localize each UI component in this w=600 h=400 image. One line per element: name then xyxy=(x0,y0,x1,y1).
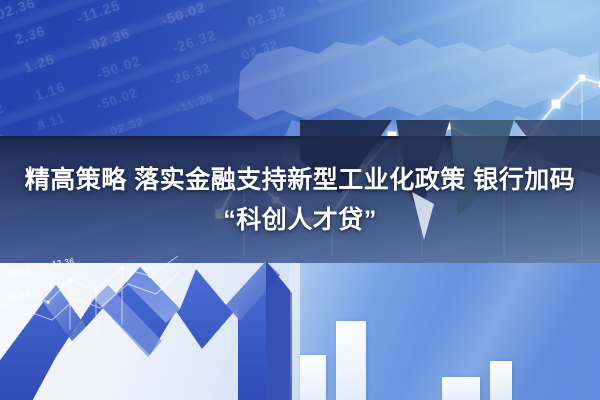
news-banner: -50.02-02.36+5.02-11.25-02.3621.364.96-0… xyxy=(0,0,600,400)
chart-node-marker xyxy=(579,75,586,82)
white-bar-chart xyxy=(290,300,600,400)
mini-value-label: 05.12 xyxy=(7,290,31,302)
bar-column xyxy=(336,321,366,400)
headline-line-1: 精高策略 落实金融支持新型工业化政策 银行加码 xyxy=(0,160,600,200)
headline-block: 精高策略 落实金融支持新型工业化政策 银行加码 “科创人才贷” xyxy=(0,160,600,240)
mini-value-label: 02.32 xyxy=(7,266,31,278)
bar-column xyxy=(300,355,326,400)
bar-column xyxy=(490,361,512,400)
bar-column xyxy=(442,377,480,400)
headline-line-2: “科创人才贷” xyxy=(0,200,600,240)
faint-value-labels: 02.3205.1212.36 xyxy=(0,250,180,360)
mini-value-label: 12.36 xyxy=(51,256,75,268)
chart-node-marker xyxy=(552,100,561,109)
